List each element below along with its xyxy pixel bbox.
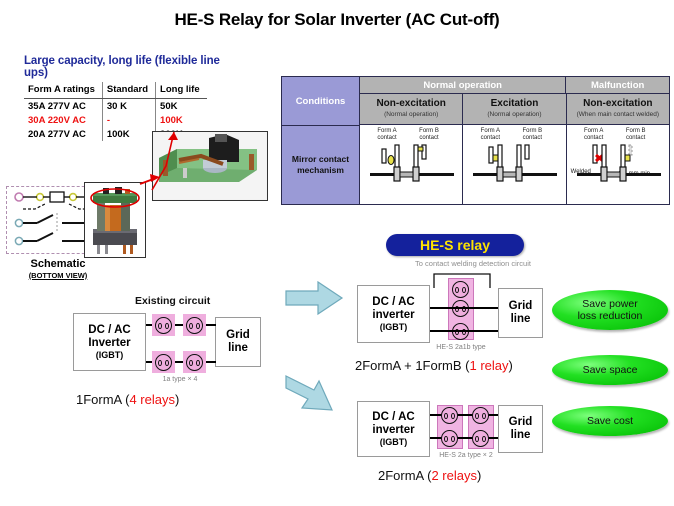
caption-plain: 2FormA + 1FormB ( [355,358,470,373]
inverter-box-2a: DC / AC inverter (IGBT) [357,401,430,457]
conditions-columns: Normal operation Malfunction Non-excitat… [360,77,669,204]
subheader-main: Excitation [491,99,539,110]
caption-red: 2 relays [431,468,477,483]
caption-red: 4 relays [129,392,175,407]
hes-relay-badge: HE-S relay [386,234,524,256]
inverter-line-1: DC / AC [88,324,130,337]
inverter-line-3: (IGBT) [380,437,408,447]
rating-form-a: 35A 277V AC [24,99,102,114]
group-normal-operation: Normal operation [360,77,566,94]
benefit-line-2: loss reduction [578,310,643,322]
schematic-label: Schematic [6,258,110,270]
ratings-col-standard: Standard [102,82,155,99]
inverter-line-3: (IGBT) [96,350,124,360]
callout-connector [120,120,180,210]
conditions-table: Conditions Mirror contact mechanism Norm… [281,76,670,205]
inverter-line-2: inverter [372,424,414,437]
mirror-diagram-welded: Form A contact Form B contact Welded 0.5… [567,125,669,204]
hes-2a1b-relay-note: HE-S 2a1b type [425,344,497,351]
table-row: 35A 277V AC 30 K 50K [24,99,207,114]
relay-coil-icon [472,407,489,424]
grid-line-2: line [511,313,531,326]
ratings-heading: Large capacity, long life (flexible line… [24,55,236,79]
caption-tail: ) [509,358,513,373]
benefit-text: Save power loss reduction [578,298,643,322]
mirror-contact-header-cell: Mirror contact mechanism [282,126,359,204]
benefit-text: Save space [583,364,638,376]
mirror-diagram-non-excitation: Form A contact Form B contact [360,125,463,204]
hes-2a-relay-note: HE-S 2a type × 2 [420,452,512,459]
ratings-col-form-a: Form A ratings [24,82,102,99]
form-a-contact-label: Form A contact [473,128,507,142]
grid-box-2a1b: Grid line [498,288,543,338]
grid-line-2: line [228,342,248,355]
inverter-line-1: DC / AC [372,296,414,309]
existing-circuit-caption: 1FormA (4 relays) [76,392,179,407]
benefit-text: Save cost [587,415,633,427]
hes-2a-caption: 2FormA (2 relays) [378,468,481,483]
grid-line-1: Grid [509,416,533,429]
form-b-contact-label: Form B contact [619,128,653,142]
mirror-mechanism-svg [469,143,561,185]
relay-coil-icon [186,317,203,334]
conditions-diagram-row: Form A contact Form B contact Form A con… [360,125,669,204]
subheader-non-excitation-normal: Non-excitation (Normal operation) [360,94,463,125]
grid-box-2a: Grid line [498,405,543,453]
conditions-row-headers: Conditions Mirror contact mechanism [282,77,360,204]
caption-plain: 1FormA ( [76,392,129,407]
relay-coil-icon [155,354,172,371]
grid-box-existing: Grid line [215,317,261,367]
relay-coil-icon [441,430,458,447]
relay-coil-icon [155,317,172,334]
inverter-line-2: Inverter [88,337,130,350]
conditions-subheader-row: Non-excitation (Normal operation) Excita… [360,94,669,125]
rating-long-life: 50K [156,99,207,114]
form-a-contact-label: Form A contact [370,128,404,142]
subheader-main: Non-excitation [583,99,652,110]
caption-plain: 2FormA ( [378,468,431,483]
subheader-excitation-normal: Excitation (Normal operation) [463,94,566,125]
arrow-right-icon-top [284,278,346,320]
grid-line-1: Grid [509,300,533,313]
caption-red: 1 relay [470,358,509,373]
ratings-col-long-life: Long life [156,82,207,99]
mirror-diagram-excitation: Form A contact Form B contact [463,125,566,204]
relay-coil-icon [472,430,489,447]
inverter-line-1: DC / AC [372,411,414,424]
circuit-wire [430,307,498,309]
mirror-mechanism-svg [366,143,458,185]
benefit-pill-space: Save space [552,355,668,385]
conditions-header-cell: Conditions [282,77,359,126]
hes-2a1b-caption: 2FormA + 1FormB (1 relay) [355,358,513,373]
welding-detection-note: To contact welding detection circuit [380,259,566,268]
form-b-contact-label: Form B contact [412,128,446,142]
inverter-box-2a1b: DC / AC inverter (IGBT) [357,285,430,343]
existing-circuit-title: Existing circuit [135,295,210,307]
ratings-header-row: Form A ratings Standard Long life [24,82,207,99]
relay-coil-icon [452,281,469,298]
benefit-line-1: Save power [582,298,637,310]
caption-tail: ) [175,392,179,407]
schematic-sublabel: (BOTTOM VIEW) [6,271,110,280]
inverter-line-2: inverter [372,309,414,322]
inverter-box-existing: DC / AC Inverter (IGBT) [73,313,146,371]
form-a-contact-label: Form A contact [577,128,611,142]
rating-form-a: 20A 277V AC [24,127,102,141]
circuit-wire [430,330,498,332]
relay-coil-icon [441,407,458,424]
benefit-pill-cost: Save cost [552,406,668,436]
page-title: HE-S Relay for Solar Inverter (AC Cut-of… [0,10,674,30]
relay-coil-icon [186,354,203,371]
group-malfunction: Malfunction [566,77,669,94]
existing-relay-note: 1a type × 4 [145,376,215,383]
conditions-group-row: Normal operation Malfunction [360,77,669,94]
rating-form-a: 30A 220V AC [24,113,102,127]
form-b-contact-label: Form B contact [515,128,549,142]
rating-standard: 30 K [102,99,155,114]
subheader-note: (When main contact welded) [577,111,659,119]
benefit-pill-power-loss: Save power loss reduction [552,290,668,330]
callout-arrow-icon [138,168,162,190]
subheader-note: (Normal operation) [384,111,438,119]
subheader-main: Non-excitation [376,99,445,110]
mirror-mechanism-svg [573,143,665,185]
subheader-note: (Normal operation) [487,111,541,119]
grid-line-1: Grid [226,329,250,342]
subheader-non-excitation-welded: Non-excitation (When main contact welded… [567,94,669,125]
caption-tail: ) [477,468,481,483]
grid-line-2: line [511,429,531,442]
inverter-line-3: (IGBT) [380,322,408,332]
arrow-down-right-icon-bottom [284,368,346,416]
